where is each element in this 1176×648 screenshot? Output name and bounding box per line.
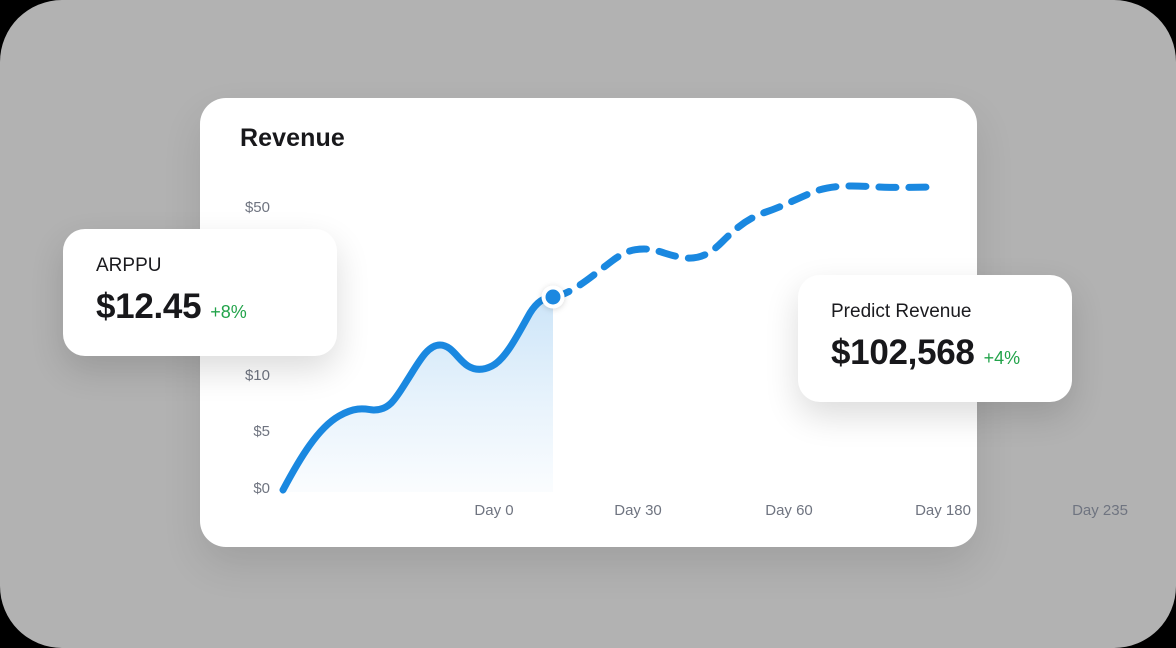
metric-delta-arppu: +8% <box>210 302 247 323</box>
metric-delta-predict-revenue: +4% <box>984 348 1021 369</box>
metric-value-predict-revenue: $102,568 <box>831 333 975 373</box>
screenshot-stage: Revenue $50 $10 $5 $0 Day 0 Day 30 Day 6… <box>0 0 1176 648</box>
x-axis-tick-day-235: Day 235 <box>1072 502 1128 519</box>
device-frame: Revenue $50 $10 $5 $0 Day 0 Day 30 Day 6… <box>0 0 1176 648</box>
metric-label-predict-revenue: Predict Revenue <box>831 301 971 323</box>
metric-value-row-arppu: $12.45 +8% <box>96 287 247 327</box>
metric-card-arppu[interactable]: ARPPU $12.45 +8% <box>63 229 337 356</box>
metric-value-arppu: $12.45 <box>96 287 201 327</box>
metric-label-arppu: ARPPU <box>96 255 161 277</box>
metric-card-predict-revenue[interactable]: Predict Revenue $102,568 +4% <box>798 275 1072 402</box>
metric-value-row-predict-revenue: $102,568 +4% <box>831 333 1020 373</box>
forecast-split-marker[interactable] <box>542 286 565 309</box>
